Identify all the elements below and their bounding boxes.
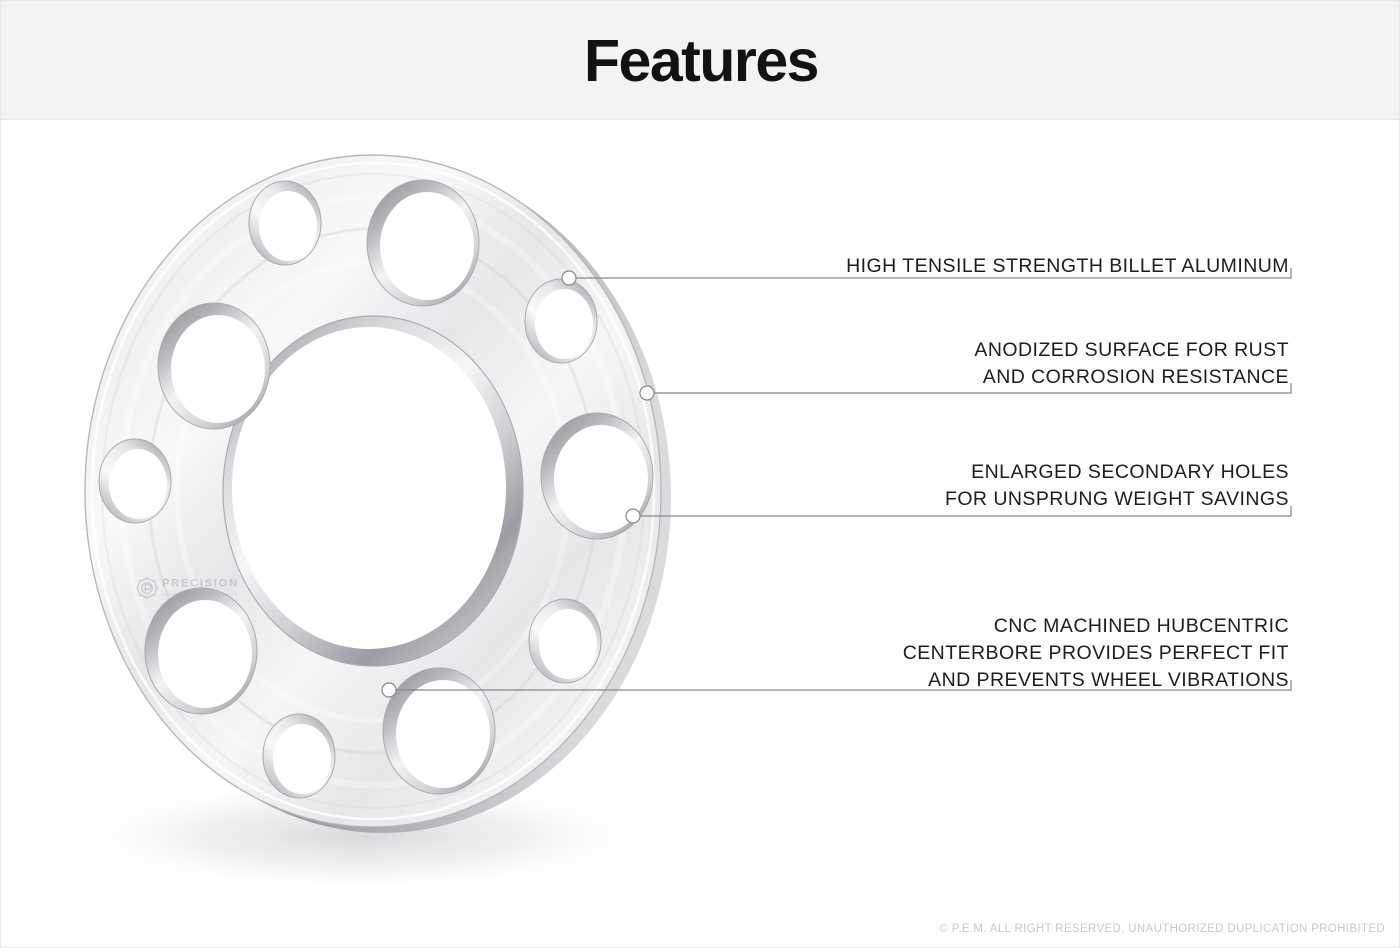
- bolt-hole: [367, 180, 479, 306]
- wheel-spacer-illustration: [61, 131, 801, 921]
- secondary-hole: [529, 599, 601, 683]
- callout-label-cnc-machined-hubcentric-centerbore: CNC MACHINED HUBCENTRIC CENTERBORE PROVI…: [903, 613, 1289, 694]
- bolt-hole: [541, 413, 653, 539]
- copyright-notice: © P.E.M. ALL RIGHT RESERVED. UNAUTHORIZE…: [939, 923, 1385, 935]
- bolt-hole: [158, 303, 270, 429]
- callout-label-enlarged-secondary-holes: ENLARGED SECONDARY HOLES FOR UNSPRUNG WE…: [945, 459, 1289, 513]
- secondary-hole: [525, 279, 597, 363]
- bolt-hole: [145, 588, 257, 714]
- secondary-hole: [99, 439, 171, 523]
- secondary-hole: [249, 181, 321, 265]
- product-image: [61, 131, 801, 921]
- callout-label-anodized-surface: ANODIZED SURFACE FOR RUST AND CORROSION …: [974, 337, 1289, 391]
- feature-diagram-page: Features: [0, 0, 1400, 948]
- secondary-hole: [263, 714, 335, 798]
- bolt-hole: [383, 668, 495, 794]
- page-title: Features: [1, 29, 1400, 93]
- callout-label-high-tensile-strength-billet-aluminum: HIGH TENSILE STRENGTH BILLET ALUMINUM: [846, 253, 1289, 280]
